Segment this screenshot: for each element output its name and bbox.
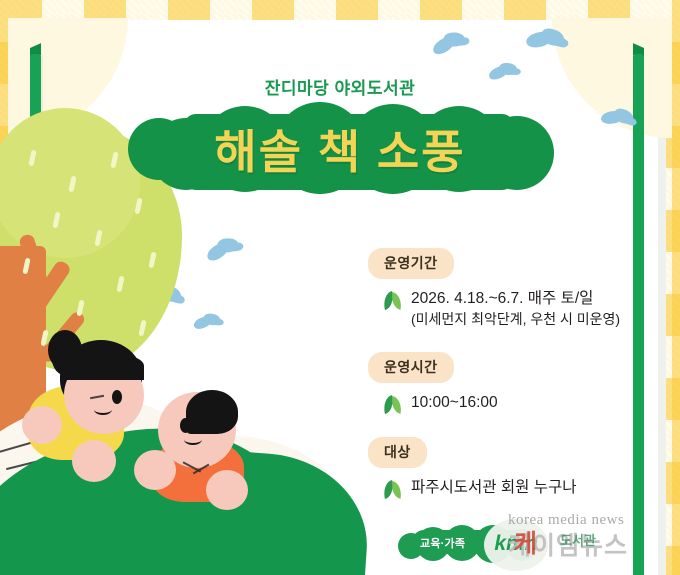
label-target: 대상 (368, 437, 427, 468)
note-period: (미세먼지 최악단계, 우천 시 미운영) (411, 310, 620, 330)
leaf-icon (382, 393, 404, 415)
leaf-icon (382, 478, 404, 500)
label-hours: 운영시간 (368, 352, 454, 383)
info-block: 운영기간 2026. 4.18.~6.7. 매주 토/일 (미세먼지 최악단계,… (368, 248, 628, 500)
value-period-wrap: 2026. 4.18.~6.7. 매주 토/일 (미세먼지 최악단계, 우천 시… (411, 288, 620, 330)
poster: 잔디마당 야외도서관 해솔 책 소풍 운영기간 2026. 4.18.~6.7.… (0, 0, 680, 575)
poster-subtitle: 잔디마당 야외도서관 (0, 74, 680, 99)
value-hours: 10:00~16:00 (411, 392, 498, 414)
bird-icon (193, 313, 221, 332)
value-target: 파주시도서관 회원 누구나 (411, 477, 576, 499)
info-row: 2026. 4.18.~6.7. 매주 토/일 (미세먼지 최악단계, 우천 시… (368, 288, 628, 330)
info-section-target: 대상 파주시도서관 회원 누구나 (368, 437, 628, 500)
leaf-icon (382, 289, 404, 311)
info-section-hours: 운영시간 10:00~16:00 (368, 352, 628, 415)
watermark-accent-green: 도서관 (560, 530, 596, 549)
info-section-period: 운영기간 2026. 4.18.~6.7. 매주 토/일 (미세먼지 최악단계,… (368, 248, 628, 330)
info-row: 파주시도서관 회원 누구나 (368, 477, 628, 500)
label-period: 운영기간 (368, 248, 454, 279)
logo-department-text: 교육·가족 (420, 535, 465, 551)
info-row: 10:00~16:00 (368, 392, 628, 415)
watermark-accent-red: 케 (514, 524, 537, 560)
bird-icon (525, 27, 565, 55)
value-period: 2026. 4.18.~6.7. 매주 토/일 (411, 290, 593, 307)
poster-title: 해솔 책 소풍 (0, 116, 680, 182)
